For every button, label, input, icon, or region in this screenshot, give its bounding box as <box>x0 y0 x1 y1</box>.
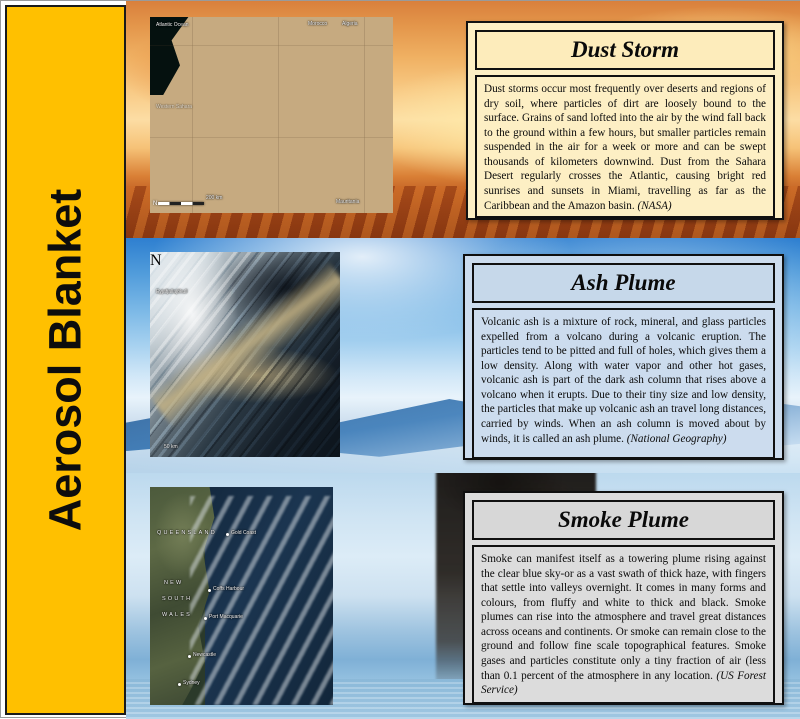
map-north-arrow-icon: N <box>153 201 157 207</box>
map-label-eyjafjallajokull: Eyjafjallajökull <box>156 290 187 295</box>
smoke-plume-body-text: Smoke can manifest itself as a towering … <box>481 553 766 682</box>
poster-side-title: Aerosol Blanket <box>5 5 126 715</box>
map-label-queensland: QUEENSLAND <box>157 531 217 537</box>
poster: Aerosol Blanket Atlantic Ocean Morocco A… <box>0 0 800 718</box>
dust-storm-body: Dust storms occur most frequently over d… <box>475 75 775 218</box>
dust-storm-source: (NASA) <box>637 200 671 212</box>
map-label-coffs-harbour: Coffs Harbour <box>213 587 244 592</box>
map-label-mauritania: Mauritania <box>336 200 359 205</box>
dust-storm-body-text: Dust storms occur most frequently over d… <box>484 83 766 212</box>
smoke-plume-satellite-image: QUEENSLAND NEW SOUTH WALES Gold Coast Co… <box>150 487 333 705</box>
map-scale-bar <box>158 202 204 205</box>
map-label-algeria: Algeria <box>342 22 358 27</box>
map-label-morocco: Morocco <box>308 22 327 27</box>
map-scale-label: 200 km <box>206 196 222 201</box>
panel-dust-storm: Atlantic Ocean Morocco Algeria Western S… <box>126 1 800 238</box>
city-dot-sydney <box>178 683 181 686</box>
smoke-plume-heading: Smoke Plume <box>472 500 775 540</box>
panel-smoke-plume: QUEENSLAND NEW SOUTH WALES Gold Coast Co… <box>126 473 800 719</box>
ash-plume-card: Ash Plume Volcanic ash is a mixture of r… <box>463 254 784 460</box>
city-dot-gold-coast <box>226 533 229 536</box>
map-grid-lines <box>150 17 393 213</box>
city-dot-newcastle <box>188 655 191 658</box>
city-dot-coffs-harbour <box>208 589 211 592</box>
panel-ash-plume: Eyjafjallajökull N 50 km Ash Plume Volca… <box>126 238 800 473</box>
smoke-plume-body: Smoke can manifest itself as a towering … <box>472 545 775 704</box>
panel-stack: Atlantic Ocean Morocco Algeria Western S… <box>126 1 800 719</box>
map-label-new: NEW <box>164 581 183 587</box>
ash-plume-body: Volcanic ash is a mixture of rock, miner… <box>472 308 775 459</box>
map-label-western-sahara: Western Sahara <box>156 105 192 110</box>
ash-plume-satellite-image: Eyjafjallajökull N 50 km <box>150 252 340 457</box>
dust-storm-heading: Dust Storm <box>475 30 775 70</box>
dust-storm-satellite-image: Atlantic Ocean Morocco Algeria Western S… <box>150 17 393 213</box>
map-label-sydney: Sydney <box>183 681 200 686</box>
map-label-port-macquarie: Port Macquarie <box>209 615 243 620</box>
map-scale-label: 50 km <box>164 445 178 450</box>
map-label-gold-coast: Gold Coast <box>231 531 256 536</box>
ash-plume-body-text: Volcanic ash is a mixture of rock, miner… <box>481 316 766 445</box>
city-dot-port-macquarie <box>204 617 207 620</box>
map-label-wales: WALES <box>162 613 192 619</box>
ash-plume-source: (National Geography) <box>627 433 727 445</box>
dust-storm-card: Dust Storm Dust storms occur most freque… <box>466 21 784 220</box>
poster-title-text: Aerosol Blanket <box>40 189 92 532</box>
map-label-newcastle: Newcastle <box>193 653 216 658</box>
smoke-haze-streaks <box>190 496 333 705</box>
map-label-south: SOUTH <box>162 597 192 603</box>
smoke-plume-card: Smoke Plume Smoke can manifest itself as… <box>463 491 784 705</box>
map-label-atlantic-ocean: Atlantic Ocean <box>156 23 189 28</box>
ash-plume-heading: Ash Plume <box>472 263 775 303</box>
